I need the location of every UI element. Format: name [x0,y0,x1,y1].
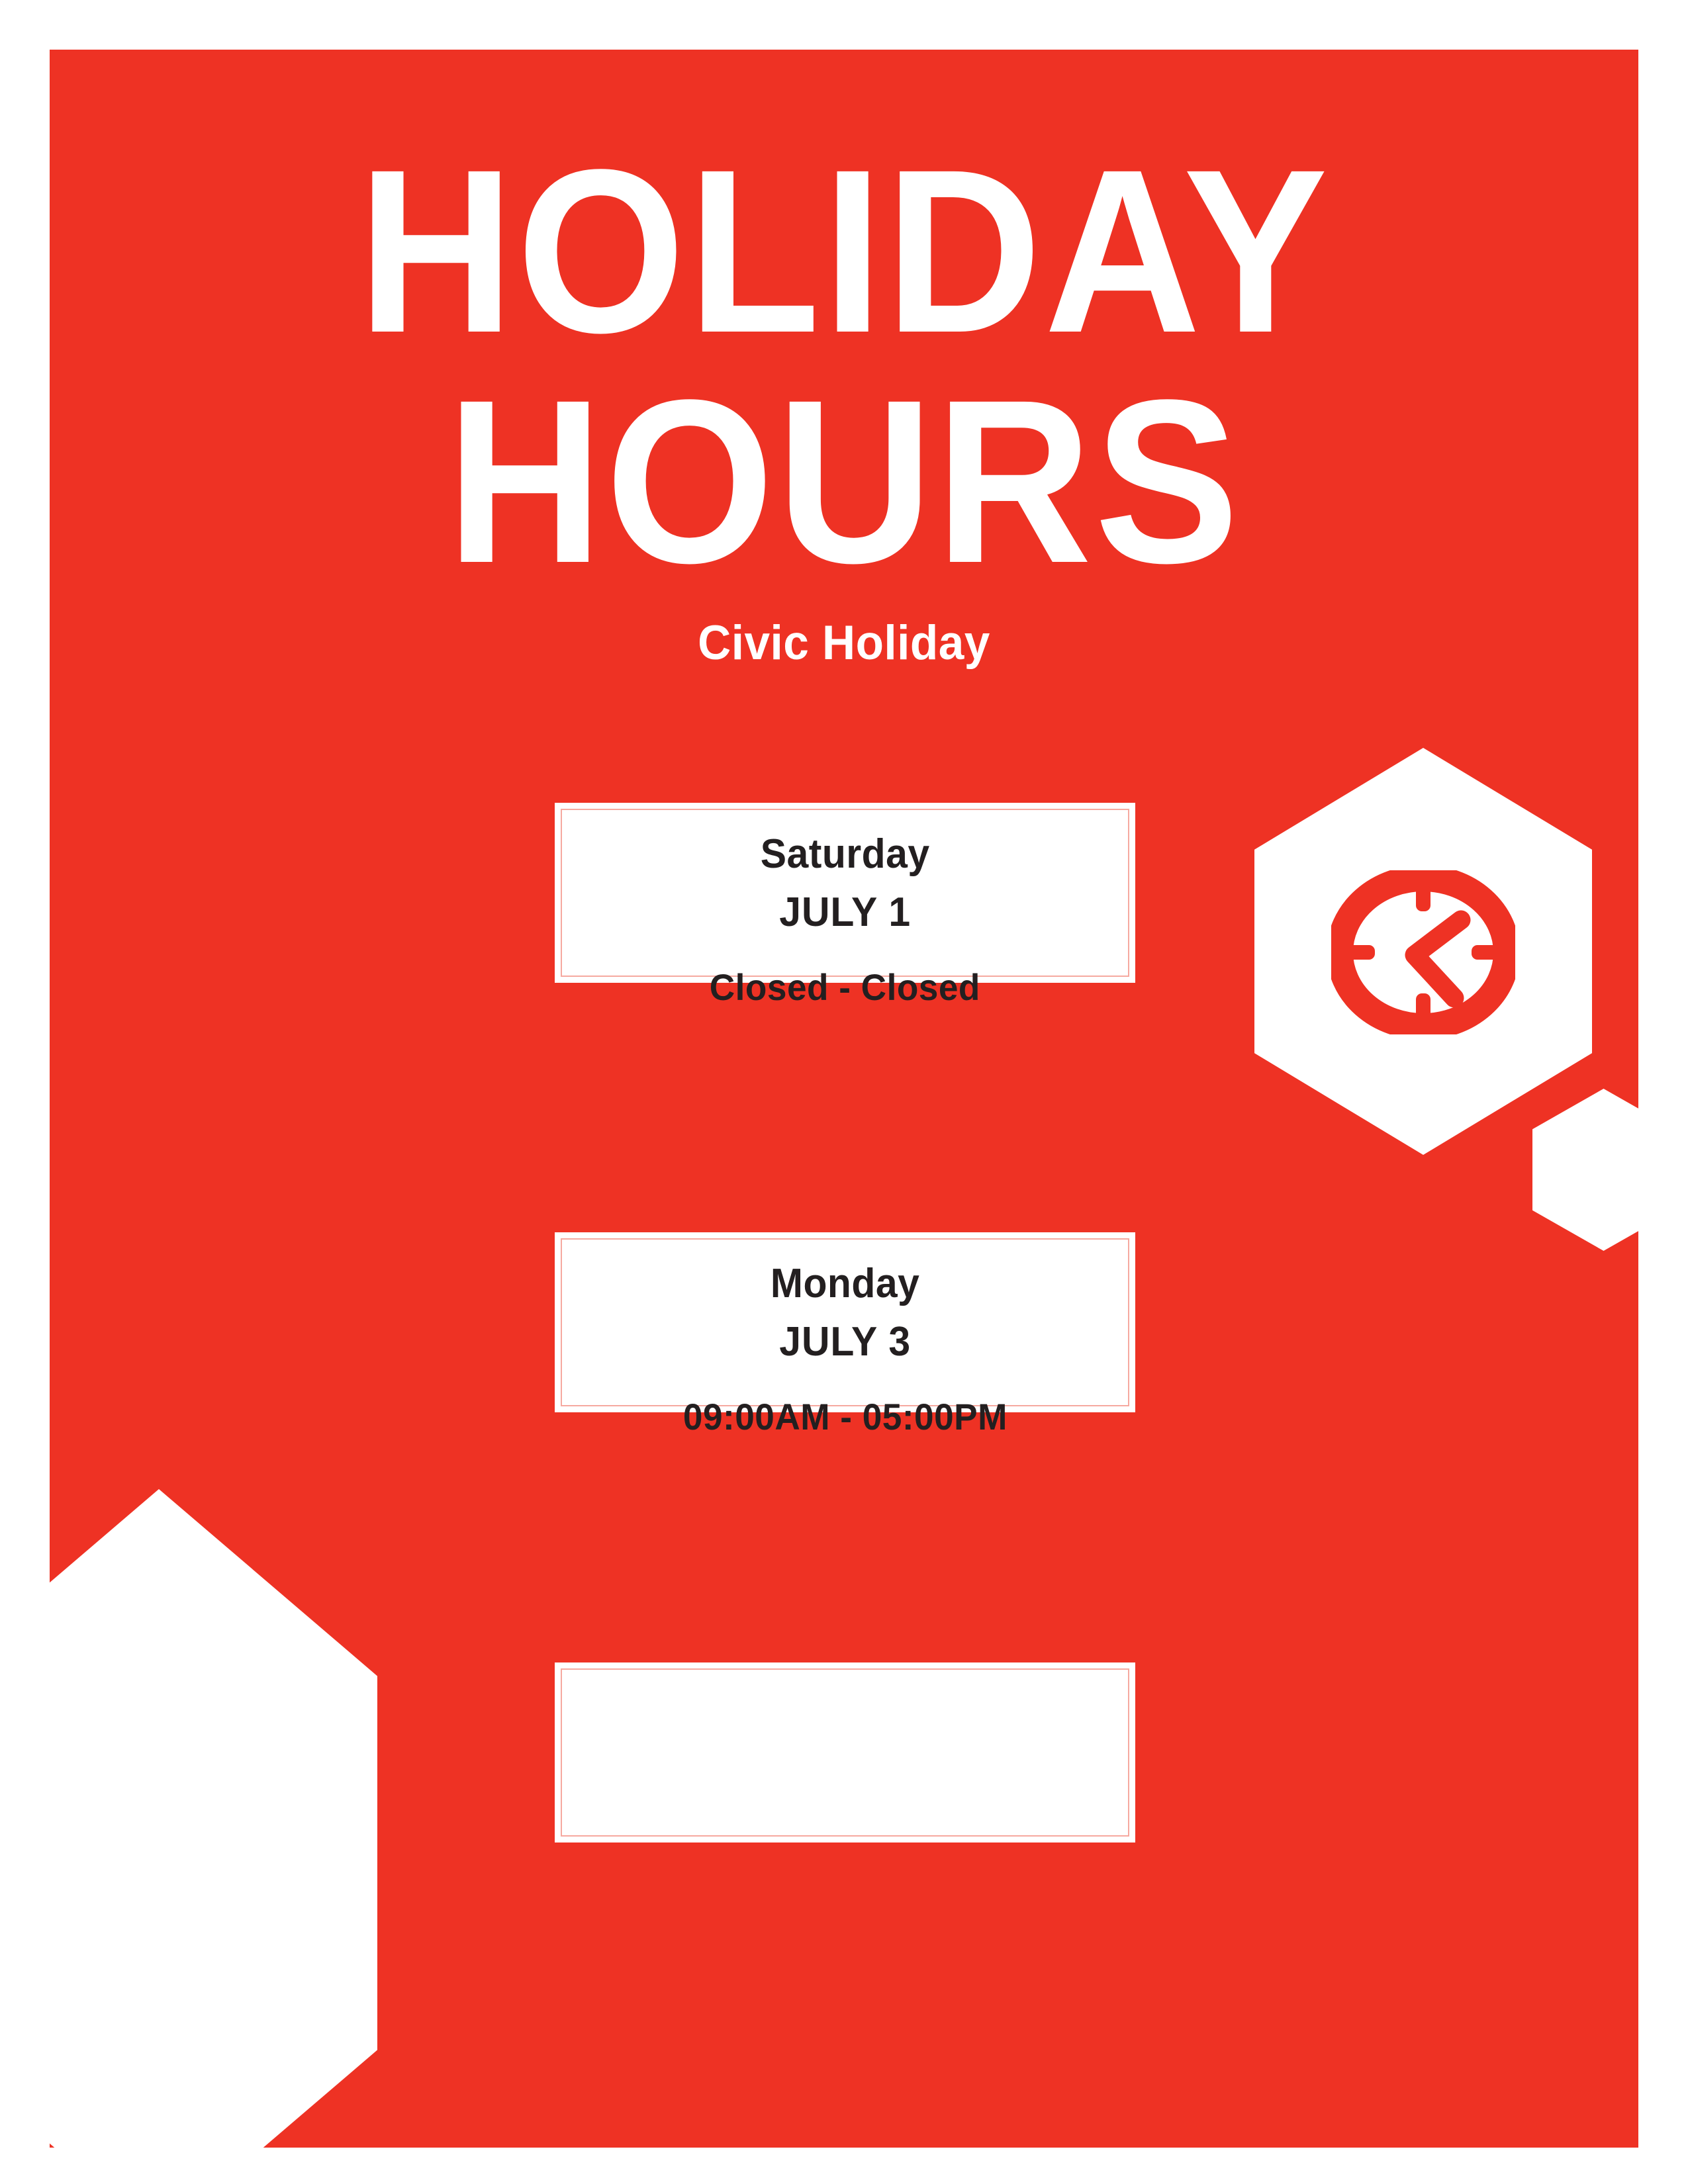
schedule-card-inner [561,1668,1129,1837]
subtitle: Civic Holiday [89,615,1599,670]
holiday-hours-poster: HOLIDAY HOURS Civic Holiday Saturday JUL… [50,50,1638,2148]
page-title: HOLIDAY HOURS [50,136,1638,597]
schedule-date: JULY 3 [779,1322,911,1363]
title-line-2: HOURS [105,366,1583,596]
clock-icon [1331,870,1515,1034]
schedule-card-inner: Monday JULY 3 09:00AM - 05:00PM [561,1238,1129,1406]
schedule-day: Monday [771,1263,919,1304]
hexagon-decoration-small [1532,1089,1638,1251]
schedule-card: Monday JULY 3 09:00AM - 05:00PM [555,1232,1135,1412]
schedule-hours: 09:00AM - 05:00PM [682,1398,1007,1435]
schedule-card-empty [555,1662,1135,1843]
schedule-card: Saturday JULY 1 Closed - Closed [555,803,1135,983]
hexagon-decoration-bottom-left [50,1489,377,2148]
schedule-card-inner: Saturday JULY 1 Closed - Closed [561,809,1129,977]
schedule-day: Saturday [761,834,930,875]
schedule-date: JULY 1 [779,892,911,933]
schedule-hours: Closed - Closed [710,969,980,1006]
title-line-1: HOLIDAY [105,136,1583,366]
